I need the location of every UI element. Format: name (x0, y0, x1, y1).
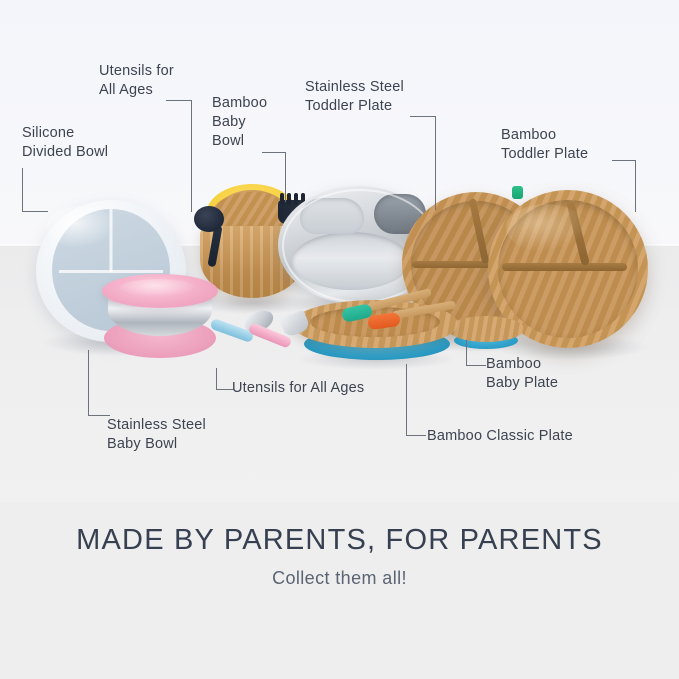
bamboo-front-plate-divider-horizontal (502, 263, 627, 271)
leader-line-silicone-divided-bowl (22, 168, 52, 212)
label-stainless-steel-toddler-plate: Stainless Steel Toddler Plate (305, 78, 404, 116)
footer-subline: Collect them all! (0, 568, 679, 589)
bamboo-front-plate-highlight (506, 204, 586, 252)
product-steel-fork-pink-handle (248, 314, 314, 358)
steel-fork-head (279, 310, 311, 338)
leader-line-utensils-all-ages-top (166, 100, 200, 212)
leader-line-bamboo-classic-plate (406, 364, 430, 436)
label-silicone-divided-bowl: Silicone Divided Bowl (22, 124, 108, 162)
leader-line-stainless-steel-baby-bowl (88, 350, 114, 416)
product-stainless-steel-baby-bowl (98, 268, 222, 360)
leader-line-stainless-steel-toddler-plate (410, 116, 442, 210)
steel-bowl-lid-highlight (120, 279, 198, 297)
label-stainless-steel-baby-bowl: Stainless Steel Baby Bowl (107, 416, 206, 454)
leader-line-bamboo-toddler-plate (612, 160, 642, 212)
leader-line-bamboo-baby-bowl (262, 152, 292, 202)
silicone-bowl-highlight (46, 206, 116, 248)
infographic-canvas: Silicone Divided Bowl Utensils for All A… (0, 0, 679, 679)
bamboo-baby-plate-body (448, 316, 524, 342)
label-utensils-all-ages-top: Utensils for All Ages (99, 62, 174, 100)
label-bamboo-baby-bowl: Bamboo Baby Bowl (212, 94, 267, 151)
label-bamboo-classic-plate: Bamboo Classic Plate (427, 427, 573, 446)
footer-headline: MADE BY PARENTS, FOR PARENTS (0, 524, 679, 557)
product-navy-spoon (194, 206, 228, 266)
label-utensils-all-ages-bottom: Utensils for All Ages (232, 379, 364, 398)
label-bamboo-toddler-plate: Bamboo Toddler Plate (501, 126, 588, 164)
label-bamboo-baby-plate: Bamboo Baby Plate (486, 355, 558, 393)
